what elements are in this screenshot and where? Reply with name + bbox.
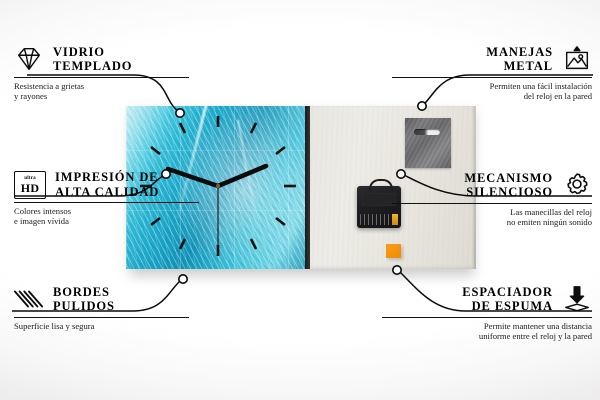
feature-divider (382, 317, 592, 318)
feature-divider (392, 77, 592, 78)
clock-center-pin (216, 184, 220, 188)
feature-vidrio-templado: VIDRIO TEMPLADO Resistencia a grietas y … (14, 44, 189, 102)
hour-hand (218, 166, 266, 186)
feature-divider (14, 202, 199, 203)
feature-title: ESPACIADOR DE ESPUMA (462, 285, 553, 314)
feature-head: MANEJAS METAL (392, 44, 592, 74)
gear-icon (562, 170, 592, 200)
movement-face (362, 193, 396, 206)
feature-divider (14, 77, 189, 78)
feature-description: Las manecillas del reloj no emiten ningú… (392, 207, 592, 228)
feature-description: Permite mantener una distancia uniforme … (382, 321, 592, 342)
polished-edges-icon (14, 284, 44, 314)
feature-espaciador-espuma: ESPACIADOR DE ESPUMA Permite mantener un… (382, 284, 592, 342)
feature-title: MANEJAS METAL (486, 45, 553, 74)
feature-mecanismo-silencioso: MECANISMO SILENCIOSO Las manecillas del … (392, 170, 592, 228)
diamond-icon (14, 44, 44, 74)
feature-bordes-pulidos: BORDES PULIDOS Superficie lisa y segura (14, 284, 189, 331)
feature-title: MECANISMO SILENCIOSO (464, 171, 553, 200)
feature-title: BORDES PULIDOS (53, 285, 115, 314)
product-infographic: VIDRIO TEMPLADO Resistencia a grietas y … (0, 0, 600, 400)
feature-title: VIDRIO TEMPLADO (53, 45, 132, 74)
ultra-hd-icon-main: HD (21, 182, 40, 194)
metal-hanger-plate (405, 118, 451, 168)
feature-head: BORDES PULIDOS (14, 284, 189, 314)
orange-foam-spacer (386, 244, 401, 258)
movement-hanging-loop (369, 179, 393, 191)
feature-description: Permiten una fácil instalación del reloj… (392, 81, 592, 102)
glass-panel-edge (305, 106, 310, 269)
framed-picture-hanging-icon (562, 44, 592, 74)
feature-head: VIDRIO TEMPLADO (14, 44, 189, 74)
feature-divider (14, 317, 189, 318)
feature-divider (392, 203, 592, 204)
feature-description: Resistencia a grietas y rayones (14, 81, 189, 102)
leader-endpoint-bordes (179, 275, 187, 283)
feature-head: ultra HD IMPRESIÓN DE ALTA CALIDAD (14, 170, 199, 199)
ultra-hd-icon-top: ultra (24, 176, 36, 181)
hanger-slot (414, 129, 440, 135)
feature-head: MECANISMO SILENCIOSO (392, 170, 592, 200)
feature-manejas-metal: MANEJAS METAL Permiten una fácil instala… (392, 44, 592, 102)
feature-title: IMPRESIÓN DE ALTA CALIDAD (55, 170, 159, 199)
ultra-hd-icon: ultra HD (14, 171, 46, 199)
feature-description: Superficie lisa y segura (14, 321, 189, 331)
feature-description: Colores intensos e imagen vívida (14, 206, 199, 227)
arrow-down-onto-pad-icon (562, 284, 592, 314)
feature-head: ESPACIADOR DE ESPUMA (382, 284, 592, 314)
feature-impresion-alta-calidad: ultra HD IMPRESIÓN DE ALTA CALIDAD Color… (14, 170, 199, 227)
